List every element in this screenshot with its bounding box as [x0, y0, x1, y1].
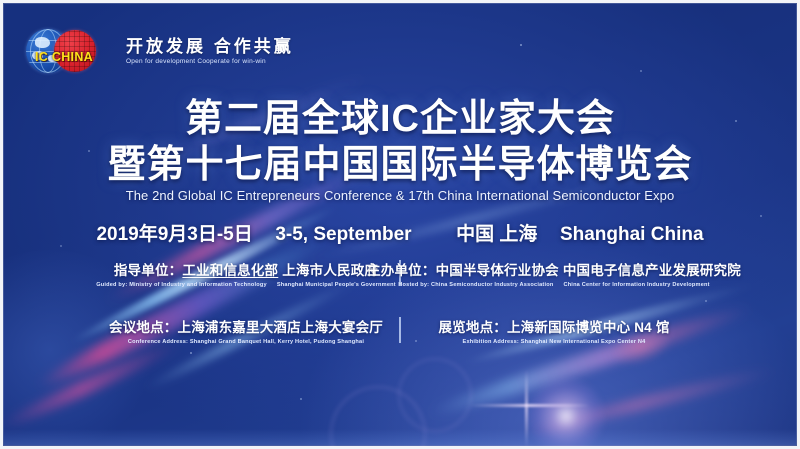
exhibition-venue-label: 展览地点： [438, 320, 507, 335]
title-line-2: 暨第十七届中国国际半导体博览会 [0, 142, 800, 188]
city-chinese: 中国 上海 [456, 224, 537, 245]
guide-unit-en-label: Guided by: [96, 282, 127, 288]
light-streak-magenta-3 [0, 336, 184, 433]
date-english: 3-5, September [275, 224, 411, 245]
conference-venue-chinese: 会议地点：上海浦东嘉里大酒店上海大宴会厅 [109, 316, 383, 336]
conference-venue-label: 会议地点： [109, 320, 178, 335]
host-unit-label: 主办单位： [367, 263, 436, 278]
venues-row: 会议地点：上海浦东嘉里大酒店上海大宴会厅 Conference Address:… [0, 316, 800, 345]
logo-wordmark: IC CHINA [28, 50, 100, 64]
guide-unit-value-2: 上海市人民政府 [282, 263, 378, 278]
lens-flare-core [527, 377, 605, 449]
conference-venue-english: Conference Address: Shanghai Grand Banqu… [128, 339, 364, 345]
dateline: 2019年9月3日-5日 3-5, September 中国 上海 Shangh… [0, 219, 800, 246]
host-unit-en-2: China Center for Information Industry De… [563, 282, 709, 288]
exhibition-venue-chinese: 展览地点：上海新国际博览中心 N4 馆 [438, 316, 669, 336]
star-speck [760, 215, 762, 217]
organizers-row: 指导单位：工业和信息化部 上海市人民政府 Guided by: Ministry… [0, 259, 800, 288]
guide-unit-block: 指导单位：工业和信息化部 上海市人民政府 Guided by: Ministry… [103, 259, 389, 288]
date-chinese: 2019年9月3日-5日 [96, 224, 252, 245]
host-unit-en-label: Hosted by: [398, 282, 429, 288]
logo-block: IC CHINA 开放发展 合作共赢 Open for development … [26, 28, 294, 74]
ic-china-logo-icon: IC CHINA [26, 28, 98, 74]
guide-unit-value-1: 工业和信息化部 [182, 263, 278, 278]
lens-flare-horizontal-ray [470, 404, 590, 407]
conference-venue-block: 会议地点：上海浦东嘉里大酒店上海大宴会厅 Conference Address:… [103, 316, 389, 345]
slogan-chinese: 开放发展 合作共赢 [126, 37, 294, 57]
venues-divider [399, 317, 401, 343]
slogan-block: 开放发展 合作共赢 Open for development Cooperate… [126, 37, 294, 66]
city-english: Shanghai China [560, 224, 704, 245]
host-unit-en-1: China Semiconductor Industry Association [431, 282, 553, 288]
host-unit-english: Hosted by: China Semiconductor Industry … [398, 282, 709, 288]
star-speck [300, 398, 302, 400]
guide-unit-chinese: 指导单位：工业和信息化部 上海市人民政府 [114, 259, 378, 279]
host-unit-value-1: 中国半导体行业协会 [436, 263, 559, 278]
guide-unit-label: 指导单位： [114, 263, 183, 278]
guide-unit-en-2: Shanghai Municipal People's Government [277, 282, 396, 288]
slogan-english: Open for development Cooperate for win-w… [126, 58, 294, 65]
conference-poster: IC CHINA 开放发展 合作共赢 Open for development … [0, 0, 800, 449]
guide-unit-en-1: Ministry of Industry and Information Tec… [129, 282, 267, 288]
star-speck [190, 352, 192, 354]
star-speck [705, 300, 707, 302]
star-speck [640, 70, 642, 72]
exhibition-venue-block: 展览地点：上海新国际博览中心 N4 馆 Exhibition Address: … [411, 316, 697, 345]
exhibition-venue-value: 上海新国际博览中心 N4 馆 [507, 320, 670, 335]
title-line-1: 第二届全球IC企业家大会 [0, 96, 800, 142]
host-unit-chinese: 主办单位：中国半导体行业协会 中国电子信息产业发展研究院 [367, 259, 741, 279]
lens-flare-vertical-ray [525, 370, 528, 448]
subtitle-english: The 2nd Global IC Entrepreneurs Conferen… [0, 188, 800, 203]
exhibition-venue-english: Exhibition Address: Shanghai New Interna… [463, 339, 646, 345]
page-title: 第二届全球IC企业家大会 暨第十七届中国国际半导体博览会 [0, 96, 800, 189]
guide-unit-english: Guided by: Ministry of Industry and Info… [96, 282, 396, 288]
host-unit-block: 主办单位：中国半导体行业协会 中国电子信息产业发展研究院 Hosted by: … [411, 259, 697, 288]
host-unit-value-2: 中国电子信息产业发展研究院 [563, 263, 741, 278]
conference-venue-value: 上海浦东嘉里大酒店上海大宴会厅 [178, 320, 384, 335]
star-speck [520, 44, 522, 46]
light-streak-magenta-1 [33, 226, 337, 395]
lens-flare-ring-2 [398, 358, 472, 432]
